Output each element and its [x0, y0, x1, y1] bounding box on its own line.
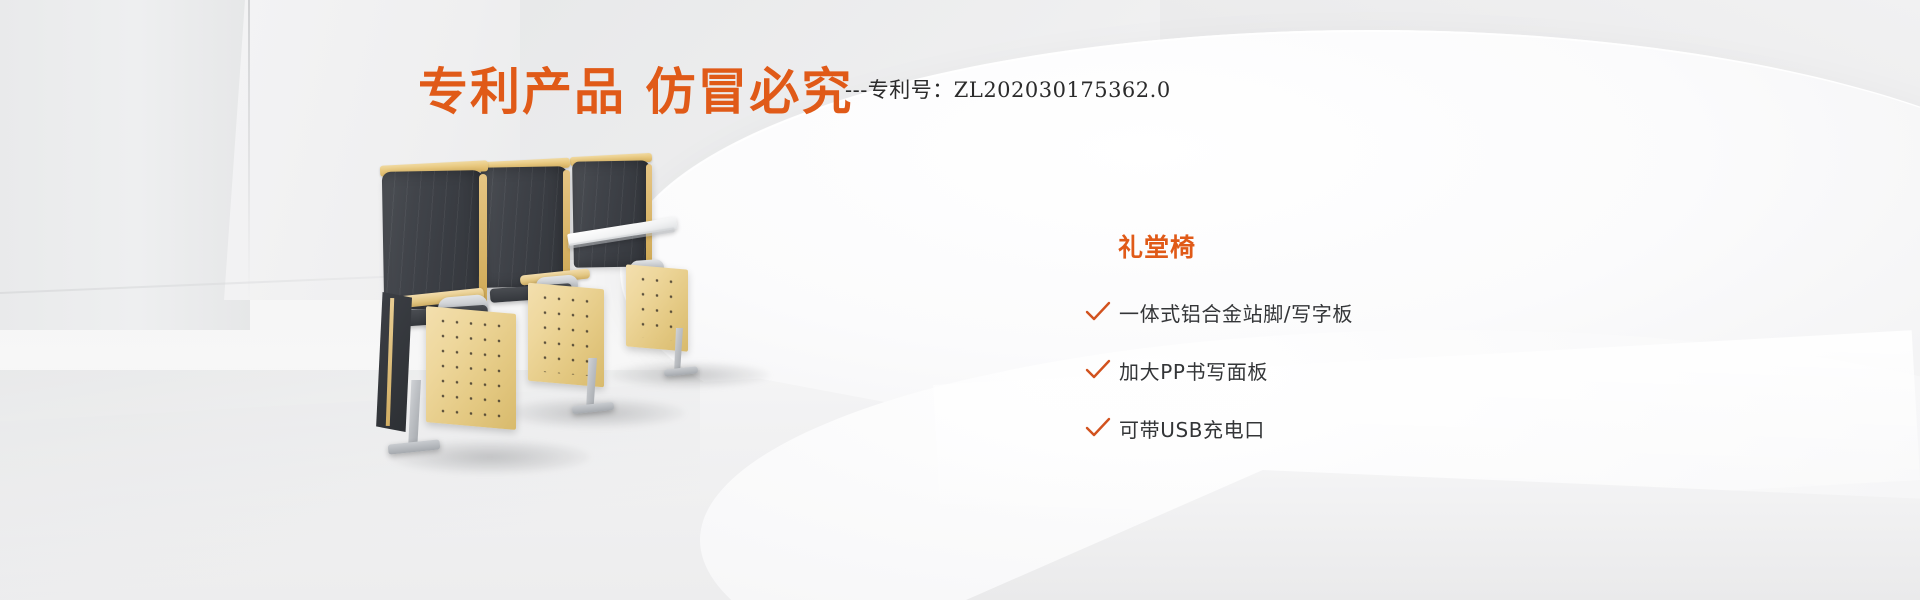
backrest-texture: [572, 160, 652, 267]
panel-perforation: [538, 290, 596, 377]
backdrop-wall-left: [0, 0, 250, 330]
chair-front-panel: [426, 306, 516, 430]
check-icon: [1085, 299, 1119, 325]
product-image-auditorium-chairs: [330, 140, 770, 480]
feature-item: 加大PP书写面板: [1085, 341, 1505, 399]
backrest-wood-edge: [646, 164, 652, 264]
panel-perforation: [636, 271, 680, 341]
feature-item: 一体式铝合金站脚/写字板: [1085, 283, 1505, 341]
headline-patent-product: 专利产品 仿冒必究: [418, 52, 853, 124]
feature-item: 可带USB充电口: [1085, 399, 1505, 457]
panel-perforation: [436, 313, 508, 419]
product-banner: 专利产品 仿冒必究 ---专利号：ZL202030175362.0 礼堂椅 一体…: [0, 0, 1920, 600]
product-title: 礼堂椅: [1118, 228, 1196, 264]
chair-backrest: [480, 166, 570, 288]
feature-label: 加大PP书写面板: [1119, 356, 1268, 385]
backrest-wood-edge: [479, 174, 487, 306]
patent-number-note: ---专利号：ZL202030175362.0: [845, 74, 1171, 104]
check-icon: [1085, 357, 1119, 383]
backdrop-seam-vertical: [248, 0, 250, 300]
backrest-texture: [480, 166, 570, 288]
chair-leg: [408, 380, 421, 450]
feature-list: 一体式铝合金站脚/写字板 加大PP书写面板 可带USB充电口: [1085, 283, 1505, 457]
chair-backrest: [572, 160, 652, 267]
chair-shadow: [505, 398, 685, 428]
feature-label: 一体式铝合金站脚/写字板: [1119, 298, 1353, 327]
check-icon: [1085, 415, 1119, 441]
chair-shadow: [610, 362, 770, 388]
feature-label: 可带USB充电口: [1119, 414, 1265, 443]
backrest-wood-edge: [563, 170, 570, 284]
